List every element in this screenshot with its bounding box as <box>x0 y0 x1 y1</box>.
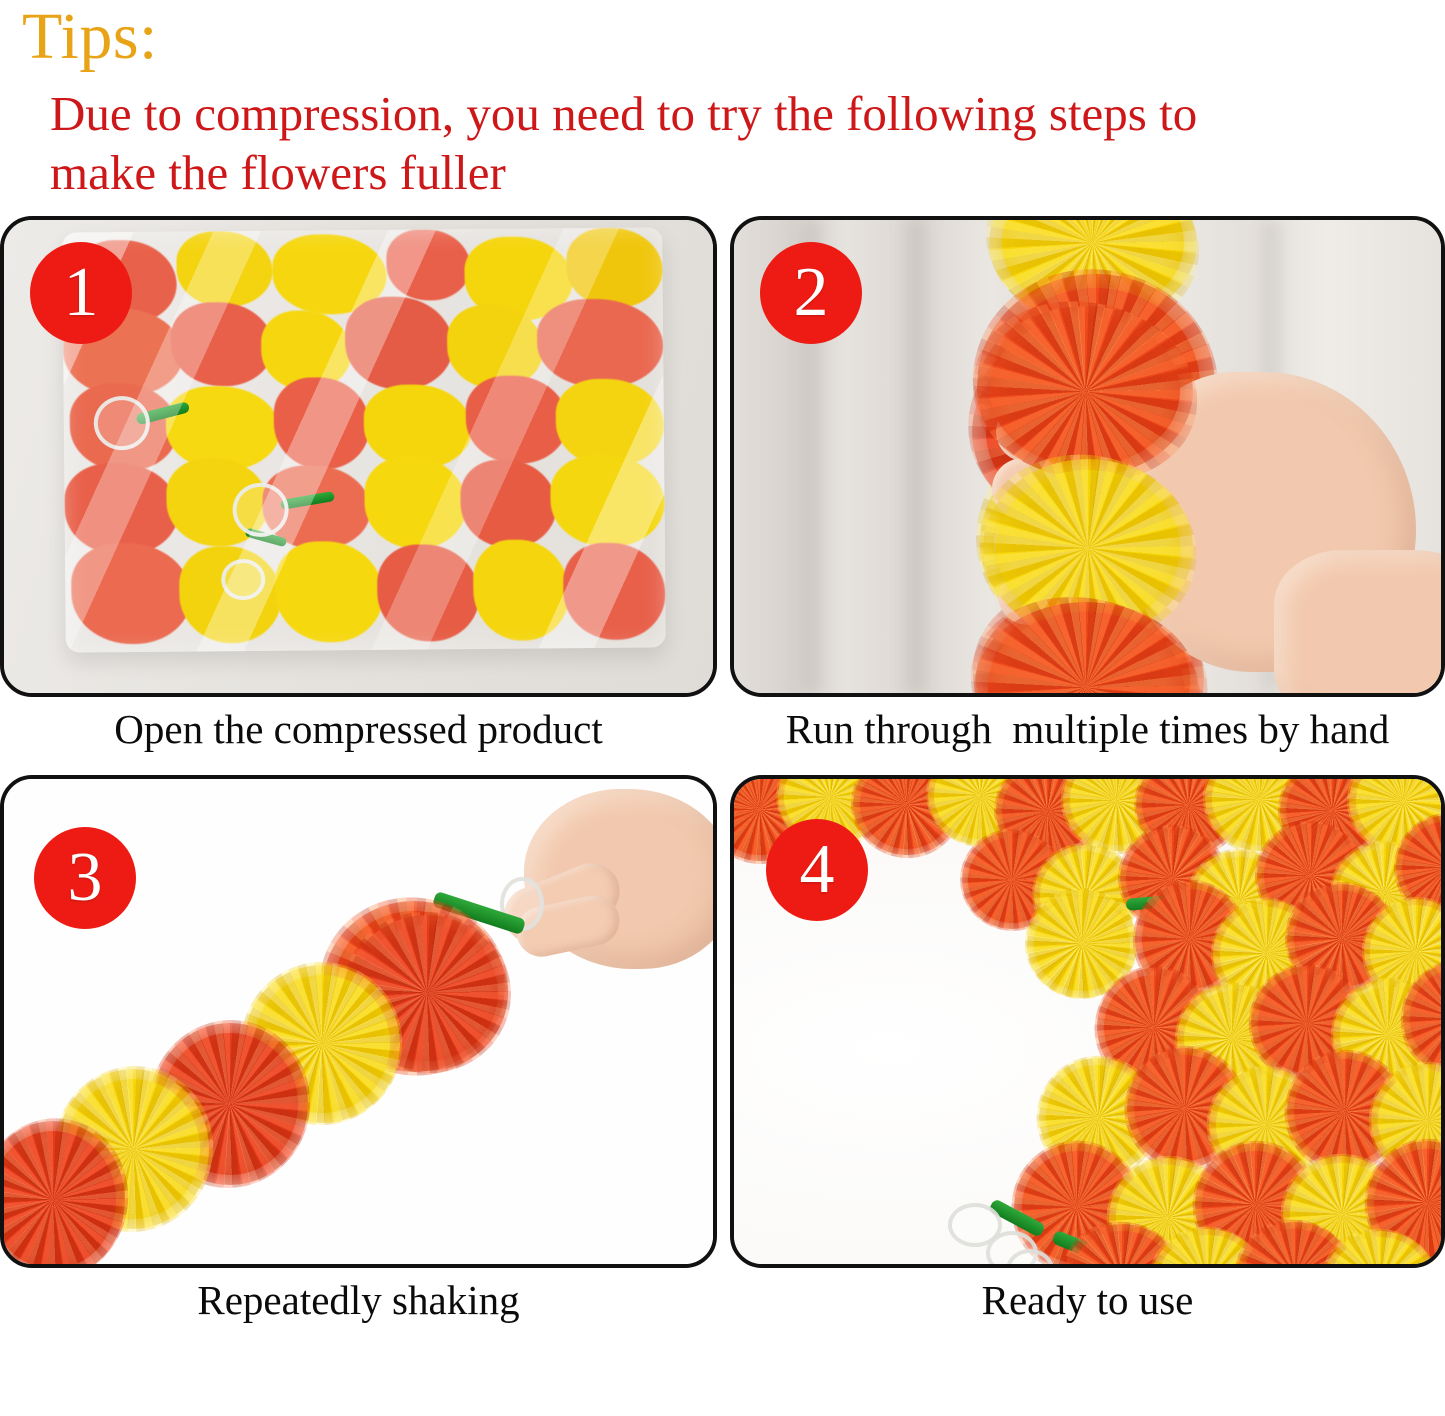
step-number: 1 <box>64 258 99 328</box>
hanging-ring <box>94 396 150 451</box>
step-card-2: 2 Run through multiple times by hand <box>730 216 1445 753</box>
step-caption-3: Repeatedly shaking <box>197 1277 519 1324</box>
step-photo-2: 2 <box>730 216 1445 697</box>
step-photo-1: 1 <box>0 216 717 697</box>
step-photo-3: 3 <box>0 775 717 1268</box>
step-number: 2 <box>794 258 829 328</box>
wrist <box>1274 550 1441 693</box>
step-caption-4: Ready to use <box>982 1277 1194 1324</box>
step-badge-2: 2 <box>760 242 862 344</box>
step-card-1: 1 Open the compressed product <box>0 216 717 753</box>
step-badge-1: 1 <box>30 242 132 344</box>
page-subtitle: Due to compression, you need to try the … <box>50 84 1250 202</box>
step-card-4: 4 Ready to use <box>730 775 1445 1324</box>
step-number: 3 <box>68 843 103 913</box>
step-card-3: 3 Repeatedly shaking <box>0 775 717 1324</box>
hanging-ring <box>221 558 265 600</box>
step-photo-4: 4 <box>730 775 1445 1268</box>
step-badge-4: 4 <box>766 819 868 921</box>
step-badge-3: 3 <box>34 827 136 929</box>
steps-grid: 1 Open the compressed product <box>0 216 1445 1324</box>
step-caption-1: Open the compressed product <box>114 706 602 753</box>
step-caption-2: Run through multiple times by hand <box>786 706 1390 753</box>
step-number: 4 <box>800 835 835 905</box>
page-title: Tips: <box>22 0 1445 74</box>
header: Tips: Due to compression, you need to tr… <box>0 0 1445 202</box>
vacuum-bag <box>62 227 666 652</box>
